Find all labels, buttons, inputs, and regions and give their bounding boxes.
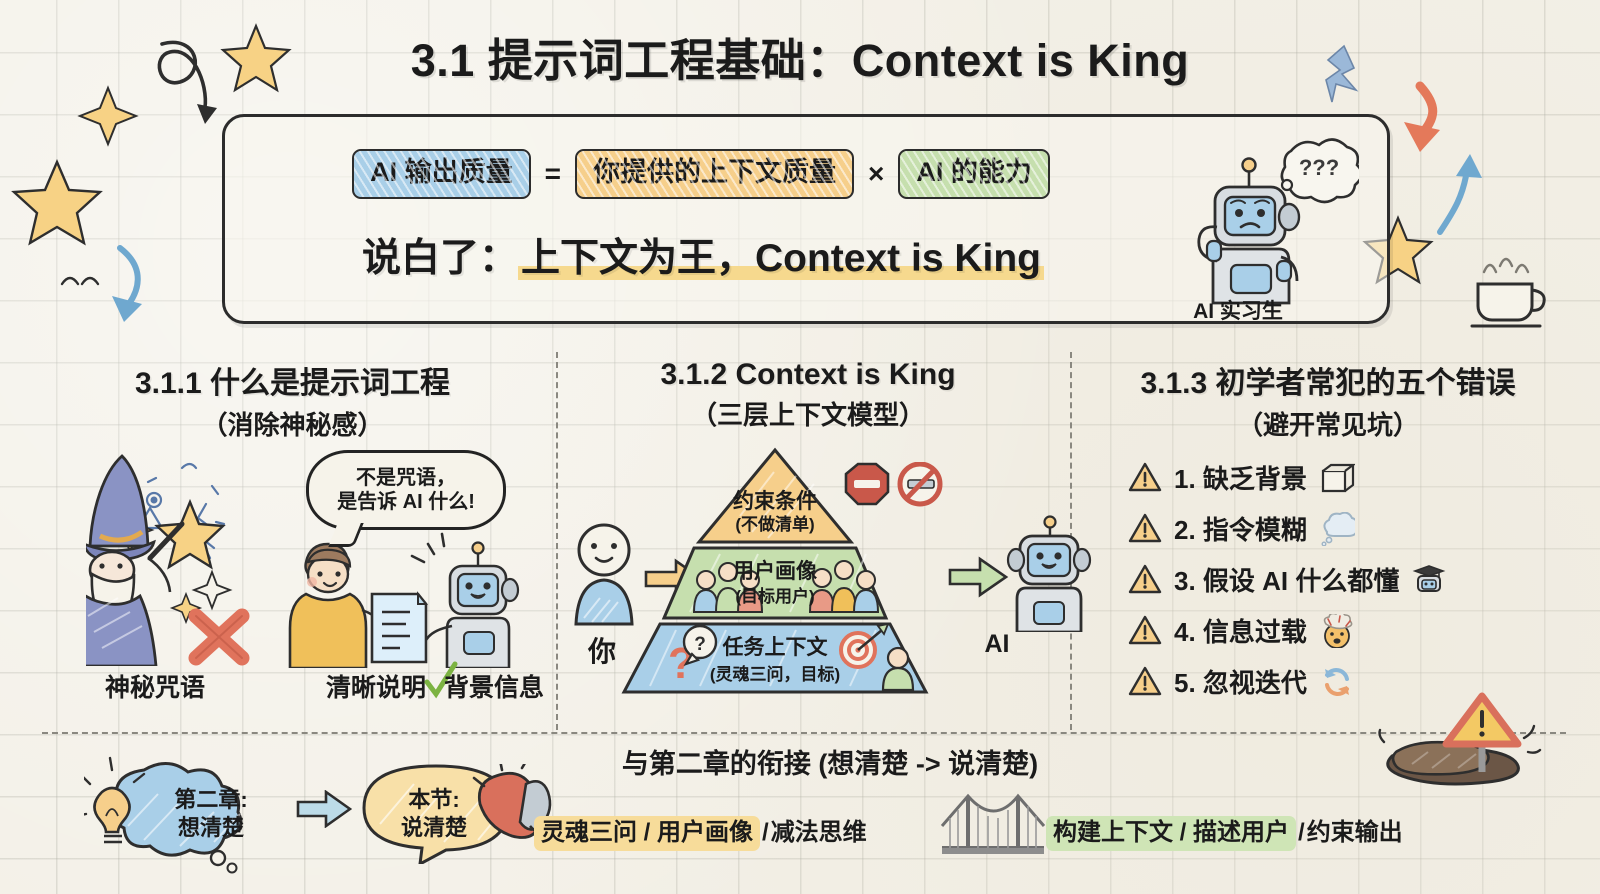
thought-cloud-chapter2: 第二章: 想清楚 bbox=[84, 756, 294, 876]
tags-right-highlight: 构建上下文 / 描述用户 bbox=[1046, 816, 1296, 851]
tagline-highlight: 上下文为王，Context is King bbox=[518, 237, 1044, 280]
warning-triangle-icon bbox=[1128, 462, 1162, 493]
section-title-313: 3.1.3 初学者常犯的五个错误 （避开常见坑） bbox=[1078, 358, 1578, 442]
happy-robot-icon bbox=[412, 534, 518, 668]
chip-context-quality: 你提供的上下文质量 bbox=[575, 149, 854, 199]
tier-2-name: 用户画像 bbox=[733, 559, 818, 583]
warning-triangle-icon bbox=[1128, 615, 1162, 646]
tags-left-separator: / bbox=[760, 819, 771, 846]
tier-1-name: 约束条件 bbox=[733, 489, 817, 513]
section-title-312: 3.1.2 Context is King （三层上下文模型） bbox=[568, 358, 1048, 432]
warning-triangle-icon bbox=[1128, 564, 1162, 595]
section-313-title: 3.1.3 初学者常犯的五个错误 bbox=[1078, 358, 1578, 402]
refresh-cycle-icon bbox=[1319, 665, 1355, 699]
tags-right-separator: / bbox=[1296, 819, 1307, 846]
empty-box-icon bbox=[1319, 461, 1355, 495]
mistakes-list: 1. 缺乏背景 2. 指令模糊 3. 假设 AI 什么都懂 bbox=[1128, 452, 1558, 707]
horizontal-divider bbox=[42, 732, 1566, 734]
mistake-1-text: 1. 缺乏背景 bbox=[1174, 459, 1307, 496]
three-layer-context-pyramid: ? ? 约束条件 (不做清单) 用户画像 (目标用户) 任务上下文 (灵魂三问，… bbox=[600, 446, 950, 696]
mistake-2-text: 2. 指令模糊 bbox=[1174, 510, 1307, 547]
chip-ai-capability: AI 的能力 bbox=[898, 149, 1050, 199]
section-311-subtitle: （消除神秘感） bbox=[40, 405, 545, 442]
cloud-chapter2-text: 第二章: 想清楚 bbox=[146, 786, 276, 841]
caption-mystic-spell: 神秘咒语 bbox=[60, 668, 250, 704]
mistake-5-text: 5. 忽视迭代 bbox=[1174, 663, 1307, 700]
tier-3-detail: (灵魂三问，目标) bbox=[710, 664, 840, 684]
tagline: 说白了：上下文为王，Context is King bbox=[253, 227, 1153, 283]
tags-chapter2: 灵魂三问 / 用户画像/减法思维 bbox=[534, 812, 867, 847]
speech-bubble-this-section: 本节: 说清楚 bbox=[352, 760, 542, 864]
ai-robot-illustration bbox=[1000, 512, 1100, 632]
formula-row: AI 输出质量 = 你提供的上下文质量 × AI 的能力 bbox=[261, 149, 1141, 199]
suspension-bridge-icon bbox=[938, 788, 1048, 858]
chip-ai-output-quality: AI 输出质量 bbox=[352, 149, 531, 199]
mistake-item-5: 5. 忽视迭代 bbox=[1128, 656, 1558, 707]
page-title: 3.1 提示词工程基础：Context is King bbox=[0, 24, 1600, 89]
cloud-icon bbox=[1319, 512, 1355, 546]
pothole-warning-sign-icon bbox=[1366, 690, 1576, 830]
label-you: 你 bbox=[570, 630, 634, 670]
mistake-3-text: 3. 假设 AI 什么都懂 bbox=[1174, 561, 1399, 598]
section-title-311: 3.1.1 什么是提示词工程 （消除神秘感） bbox=[40, 358, 545, 442]
tier-2-detail: (目标用户) bbox=[735, 586, 814, 606]
right-arrow-icon bbox=[296, 790, 352, 828]
formula-panel: AI 输出质量 = 你提供的上下文质量 × AI 的能力 说白了：上下文为王，C… bbox=[222, 114, 1390, 324]
label-ai: AI bbox=[965, 630, 1029, 659]
speech-bubble-prompt-explained: 不是咒语， 是告诉 AI 什么! bbox=[306, 450, 506, 530]
mistake-4-text: 4. 信息过载 bbox=[1174, 612, 1307, 649]
equals-sign: = bbox=[545, 158, 561, 190]
boy-handing-document-to-robot-illustration bbox=[262, 528, 522, 668]
caption-clear-instruction: 清晰说明 bbox=[266, 668, 426, 704]
red-cross-icon bbox=[188, 608, 250, 666]
svg-text:?: ? bbox=[694, 634, 706, 655]
mistake-item-3: 3. 假设 AI 什么都懂 bbox=[1128, 554, 1558, 605]
tags-left-plain: 减法思维 bbox=[771, 819, 867, 846]
tier-1-detail: (不做清单) bbox=[735, 514, 814, 534]
bridge-section-title: 与第二章的衔接 (想清楚 -> 说清楚) bbox=[520, 742, 1140, 781]
warning-triangle-icon bbox=[1128, 513, 1162, 544]
tags-left-highlight: 灵魂三问 / 用户画像 bbox=[534, 816, 760, 851]
section-313-subtitle: （避开常见坑） bbox=[1078, 405, 1578, 442]
graduate-robot-icon bbox=[1411, 563, 1447, 597]
caption-background-info: 背景信息 bbox=[444, 668, 604, 704]
tags-right-plain: 约束输出 bbox=[1307, 819, 1403, 846]
times-sign: × bbox=[868, 158, 884, 190]
svg-text:???: ??? bbox=[1299, 155, 1339, 180]
speech-line-1: 不是咒语， bbox=[309, 466, 503, 490]
bubble-tail bbox=[328, 523, 364, 547]
mistake-item-2: 2. 指令模糊 bbox=[1128, 503, 1558, 554]
section-312-title: 3.1.2 Context is King bbox=[568, 358, 1048, 392]
coffee-cup-icon bbox=[1472, 259, 1544, 326]
mistake-item-4: 4. 信息过载 bbox=[1128, 605, 1558, 656]
wizard-illustration bbox=[86, 446, 306, 666]
tags-this-section: 构建上下文 / 描述用户/约束输出 bbox=[1046, 812, 1403, 847]
arrow-pyramid-to-ai-icon bbox=[948, 556, 1010, 598]
robot-intern-illustration: ??? AI 实习生 bbox=[1159, 133, 1359, 323]
tagline-prefix: 说白了： bbox=[362, 237, 518, 280]
tier-3-name: 任务上下文 bbox=[722, 635, 829, 659]
section-312-subtitle: （三层上下文模型） bbox=[568, 395, 1048, 432]
section-311-title: 3.1.1 什么是提示词工程 bbox=[40, 358, 545, 402]
exploding-head-icon bbox=[1319, 614, 1355, 648]
robot-intern-label: AI 实习生 bbox=[1159, 295, 1317, 325]
thought-bubble: ??? bbox=[1275, 139, 1359, 202]
warning-triangle-icon bbox=[1128, 666, 1162, 697]
speech-line-2: 是告诉 AI 什么! bbox=[309, 490, 503, 514]
mistake-item-1: 1. 缺乏背景 bbox=[1128, 452, 1558, 503]
column-divider-2 bbox=[1070, 352, 1072, 730]
